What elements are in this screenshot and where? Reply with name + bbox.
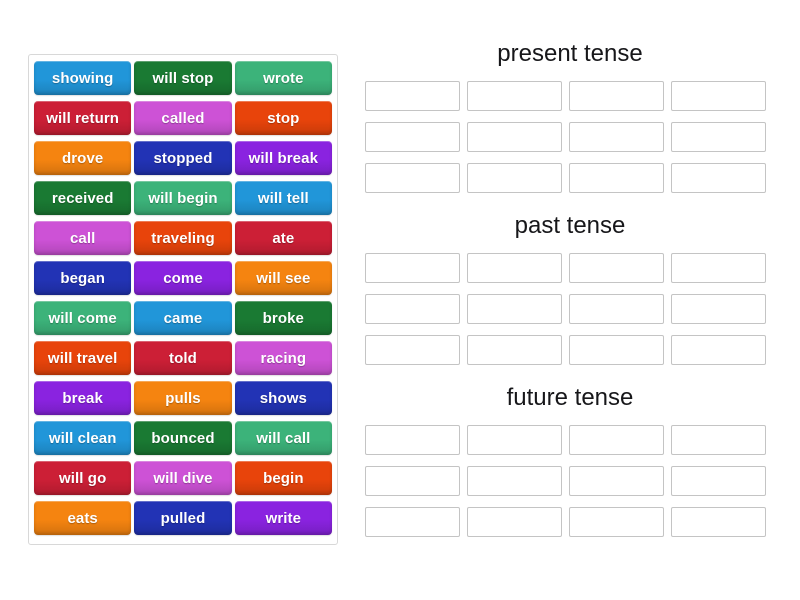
drop-slot[interactable]: [365, 253, 460, 283]
drop-slot[interactable]: [569, 466, 664, 496]
drop-slot[interactable]: [365, 507, 460, 537]
word-tile[interactable]: came: [134, 301, 231, 335]
drop-slot[interactable]: [365, 466, 460, 496]
drop-slot[interactable]: [467, 122, 562, 152]
word-tile[interactable]: will go: [34, 461, 131, 495]
drop-slot[interactable]: [365, 163, 460, 193]
word-tile[interactable]: will break: [235, 141, 332, 175]
word-tile[interactable]: stop: [235, 101, 332, 135]
word-tile[interactable]: stopped: [134, 141, 231, 175]
word-bank-panel: showingwill stopwrotewill returncalledst…: [28, 54, 338, 545]
category-group: future tense: [365, 384, 775, 537]
drop-slot[interactable]: [569, 81, 664, 111]
drop-slot[interactable]: [671, 122, 766, 152]
drop-slot[interactable]: [671, 253, 766, 283]
drop-slot-grid: [365, 425, 775, 537]
word-tile[interactable]: eats: [34, 501, 131, 535]
category-title: future tense: [365, 384, 775, 412]
category-title: present tense: [365, 40, 775, 68]
drop-slot[interactable]: [467, 81, 562, 111]
category-column: present tensepast tensefuture tense: [365, 40, 775, 556]
word-tile[interactable]: racing: [235, 341, 332, 375]
drop-slot[interactable]: [671, 335, 766, 365]
word-tile[interactable]: will come: [34, 301, 131, 335]
word-tile[interactable]: traveling: [134, 221, 231, 255]
drop-slot[interactable]: [365, 122, 460, 152]
category-group: past tense: [365, 212, 775, 365]
word-tile[interactable]: break: [34, 381, 131, 415]
word-tile[interactable]: call: [34, 221, 131, 255]
word-tile[interactable]: broke: [235, 301, 332, 335]
category-group: present tense: [365, 40, 775, 193]
drop-slot[interactable]: [467, 163, 562, 193]
word-tile[interactable]: showing: [34, 61, 131, 95]
drop-slot[interactable]: [671, 507, 766, 537]
drop-slot[interactable]: [671, 81, 766, 111]
word-tile-grid: showingwill stopwrotewill returncalledst…: [34, 61, 332, 535]
word-tile[interactable]: pulled: [134, 501, 231, 535]
word-tile[interactable]: write: [235, 501, 332, 535]
word-tile[interactable]: will travel: [34, 341, 131, 375]
drop-slot[interactable]: [467, 294, 562, 324]
drop-slot[interactable]: [569, 253, 664, 283]
word-tile[interactable]: ate: [235, 221, 332, 255]
drop-slot[interactable]: [671, 466, 766, 496]
drop-slot[interactable]: [365, 335, 460, 365]
drop-slot[interactable]: [467, 335, 562, 365]
drop-slot[interactable]: [365, 425, 460, 455]
word-tile[interactable]: bounced: [134, 421, 231, 455]
word-tile[interactable]: drove: [34, 141, 131, 175]
word-tile[interactable]: will tell: [235, 181, 332, 215]
drop-slot[interactable]: [467, 466, 562, 496]
drop-slot[interactable]: [467, 253, 562, 283]
word-tile[interactable]: will see: [235, 261, 332, 295]
word-tile[interactable]: shows: [235, 381, 332, 415]
word-tile[interactable]: received: [34, 181, 131, 215]
word-tile[interactable]: will begin: [134, 181, 231, 215]
drop-slot[interactable]: [467, 425, 562, 455]
word-tile[interactable]: will call: [235, 421, 332, 455]
word-tile[interactable]: will return: [34, 101, 131, 135]
word-tile[interactable]: told: [134, 341, 231, 375]
drop-slot[interactable]: [569, 425, 664, 455]
word-tile[interactable]: called: [134, 101, 231, 135]
drop-slot[interactable]: [671, 163, 766, 193]
drop-slot[interactable]: [569, 122, 664, 152]
word-tile[interactable]: pulls: [134, 381, 231, 415]
category-title: past tense: [365, 212, 775, 240]
drop-slot-grid: [365, 81, 775, 193]
word-tile[interactable]: will stop: [134, 61, 231, 95]
word-tile[interactable]: will clean: [34, 421, 131, 455]
drop-slot[interactable]: [569, 335, 664, 365]
word-tile[interactable]: begin: [235, 461, 332, 495]
drop-slot-grid: [365, 253, 775, 365]
word-tile[interactable]: began: [34, 261, 131, 295]
drop-slot[interactable]: [569, 507, 664, 537]
drop-slot[interactable]: [671, 294, 766, 324]
word-tile[interactable]: wrote: [235, 61, 332, 95]
word-tile[interactable]: will dive: [134, 461, 231, 495]
drop-slot[interactable]: [671, 425, 766, 455]
group-sort-activity: showingwill stopwrotewill returncalledst…: [0, 0, 800, 600]
drop-slot[interactable]: [569, 294, 664, 324]
drop-slot[interactable]: [365, 81, 460, 111]
drop-slot[interactable]: [365, 294, 460, 324]
drop-slot[interactable]: [467, 507, 562, 537]
drop-slot[interactable]: [569, 163, 664, 193]
word-tile[interactable]: come: [134, 261, 231, 295]
